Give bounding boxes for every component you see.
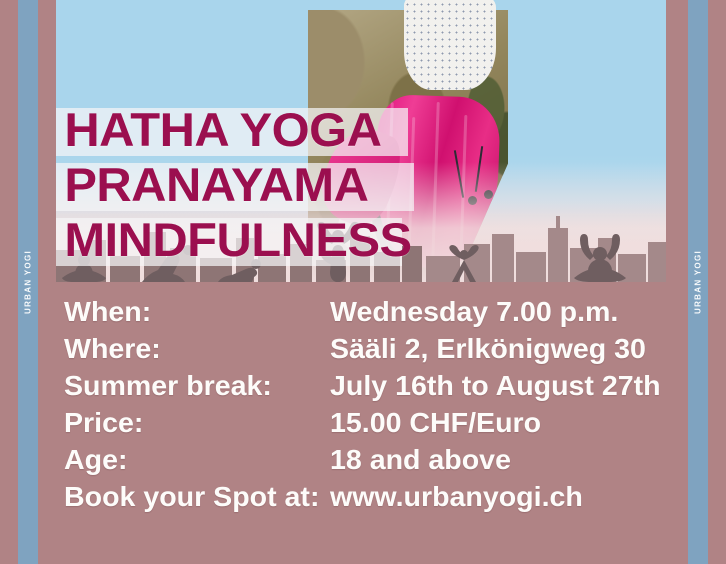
details-list: When: Wednesday 7.00 p.m. Where: Sääli 2… [64,296,664,518]
poster-root: URBAN YOGI URBAN YOGI [0,0,726,564]
headline-mindfulness: MINDFULNESS [56,214,666,266]
detail-label-booking: Book your Spot at: [64,481,335,513]
poster-content: HATHA YOGA PRANAYAMA MINDFULNESS When: W… [56,0,666,564]
headline-text: HATHA YOGA [64,103,381,156]
detail-value-summer-break: July 16th to August 27th [330,370,666,402]
right-brand-band: URBAN YOGI [688,0,708,564]
detail-label-price: Price: [64,407,335,439]
detail-label-when: When: [64,296,335,328]
detail-value-when: Wednesday 7.00 p.m. [330,296,666,328]
detail-row-where: Where: Sääli 2, Erlkönigweg 30 [64,333,664,370]
white-patterned-top [404,0,496,90]
fabric-pattern [404,0,496,90]
headline-block: HATHA YOGA PRANAYAMA MINDFULNESS [56,104,666,269]
headline-row: MINDFULNESS [56,214,666,269]
detail-value-age: 18 and above [330,444,666,476]
headline-text: MINDFULNESS [64,213,411,266]
headline-row: PRANAYAMA [56,159,666,214]
detail-label-age: Age: [64,444,335,476]
headline-text: PRANAYAMA [64,158,368,211]
left-brand-label: URBAN YOGI [24,250,33,314]
headline-row: HATHA YOGA [56,104,666,159]
headline-pranayama: PRANAYAMA [56,159,666,211]
detail-value-where: Sääli 2, Erlkönigweg 30 [330,333,666,365]
detail-value-booking-url[interactable]: www.urbanyogi.ch [330,481,666,513]
detail-row-summer-break: Summer break: July 16th to August 27th [64,370,664,407]
headline-hatha-yoga: HATHA YOGA [56,104,666,156]
detail-row-when: When: Wednesday 7.00 p.m. [64,296,664,333]
detail-row-price: Price: 15.00 CHF/Euro [64,407,664,444]
left-brand-band: URBAN YOGI [18,0,38,564]
right-brand-label: URBAN YOGI [694,250,703,314]
detail-label-where: Where: [64,333,335,365]
detail-row-booking: Book your Spot at: www.urbanyogi.ch [64,481,664,518]
detail-label-summer-break: Summer break: [64,370,335,402]
detail-row-age: Age: 18 and above [64,444,664,481]
detail-value-price: 15.00 CHF/Euro [330,407,666,439]
